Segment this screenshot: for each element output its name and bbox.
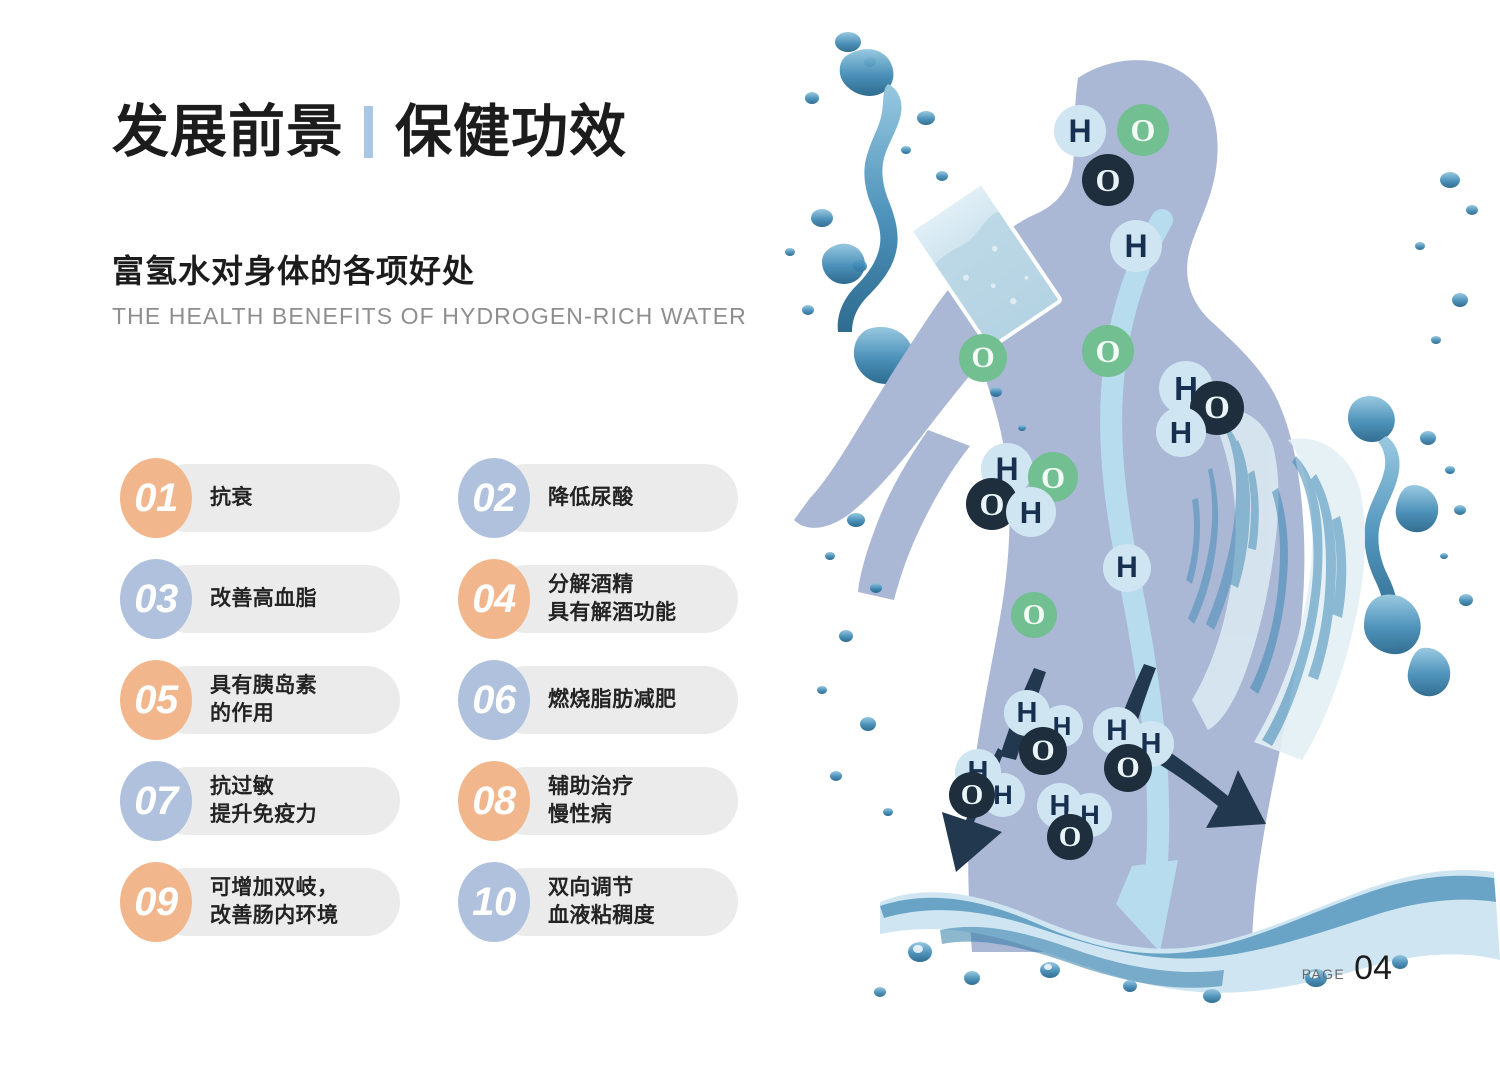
benefit-number-badge: 06 [458,660,530,740]
benefit-label: 双向调节 血液粘稠度 [548,874,655,929]
benefit-label: 抗衰 [210,484,253,512]
title-divider-bar [364,106,373,158]
subtitle-chinese: 富氢水对身体的各项好处 [112,246,747,292]
title-left: 发展前景 [112,104,344,161]
benefit-label: 改善高血脂 [210,585,317,613]
benefit-number-badge: 08 [458,761,530,841]
benefit-item-10[interactable]: 10双向调节 血液粘稠度 [458,862,738,942]
benefit-item-08[interactable]: 08辅助治疗 慢性病 [458,761,738,841]
benefit-label: 分解酒精 具有解酒功能 [548,571,676,626]
page-indicator: PAGE 04 [1302,949,1392,988]
benefit-item-01[interactable]: 01抗衰 [120,458,400,538]
benefit-number-badge: 09 [120,862,192,942]
slide-canvas: HOOHOOHOHHOOHHOHHOHHOHHOHHO 发展前景 保健功效 富氢… [0,0,1500,1066]
benefit-number-badge: 03 [120,559,192,639]
benefit-number-badge: 10 [458,862,530,942]
benefit-item-02[interactable]: 02降低尿酸 [458,458,738,538]
benefit-item-03[interactable]: 03改善高血脂 [120,559,400,639]
title-right: 保健功效 [395,104,627,161]
benefit-number-badge: 01 [120,458,192,538]
page-title: 发展前景 保健功效 [112,96,747,168]
benefit-number-badge: 05 [120,660,192,740]
benefit-item-06[interactable]: 06燃烧脂肪减肥 [458,660,738,740]
benefit-item-09[interactable]: 09可增加双岐， 改善肠内环境 [120,862,400,942]
benefit-label: 抗过敏 提升免疫力 [210,773,317,828]
page-number: 04 [1354,949,1392,988]
benefit-item-07[interactable]: 07抗过敏 提升免疫力 [120,761,400,841]
benefit-label: 具有胰岛素 的作用 [210,672,317,727]
benefit-label: 可增加双岐， 改善肠内环境 [210,874,338,929]
page-label: PAGE [1302,966,1345,982]
benefit-label: 降低尿酸 [548,484,634,512]
benefit-label: 辅助治疗 慢性病 [548,773,634,828]
benefit-number-badge: 04 [458,559,530,639]
water-splash-right [1348,396,1473,696]
benefits-grid: 01抗衰02降低尿酸03改善高血脂04分解酒精 具有解酒功能05具有胰岛素 的作… [120,458,740,942]
benefit-label: 燃烧脂肪减肥 [548,686,676,714]
benefit-number-badge: 02 [458,458,530,538]
slide-header: 发展前景 保健功效 富氢水对身体的各项好处 THE HEALTH BENEFIT… [112,96,747,330]
benefit-item-05[interactable]: 05具有胰岛素 的作用 [120,660,400,740]
hydrogen-water-illustration [760,0,1500,1066]
benefit-number-badge: 07 [120,761,192,841]
benefit-item-04[interactable]: 04分解酒精 具有解酒功能 [458,559,738,639]
subtitle-english: THE HEALTH BENEFITS OF HYDROGEN-RICH WAT… [112,303,747,330]
